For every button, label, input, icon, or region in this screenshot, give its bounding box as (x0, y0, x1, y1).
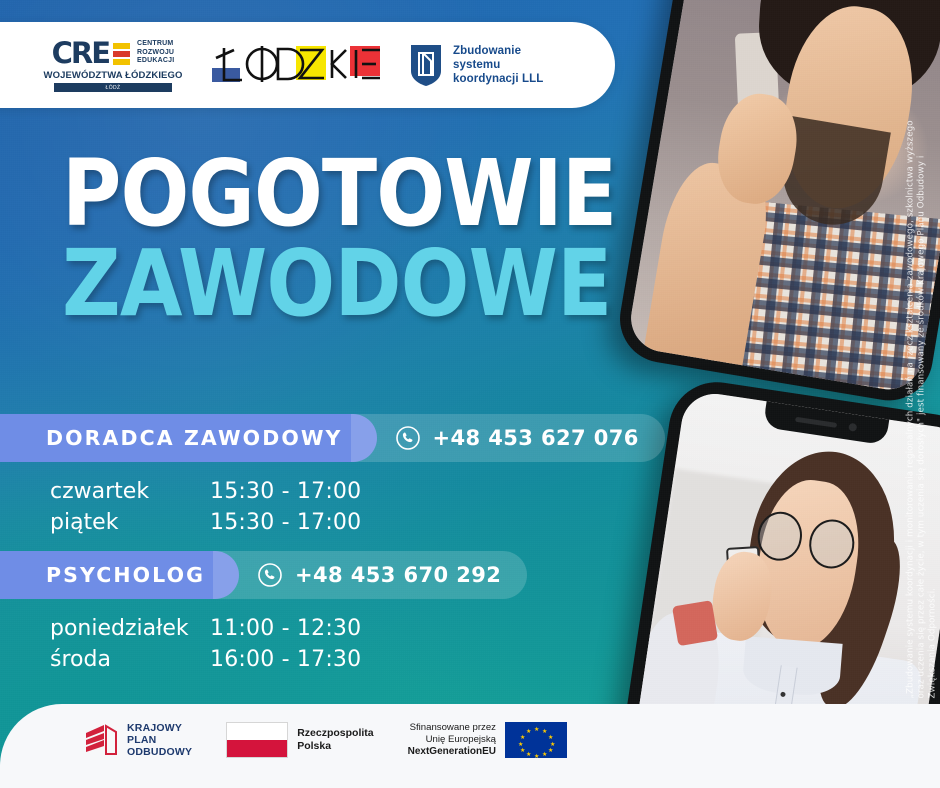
eu-line-3: NextGenerationEU (408, 746, 496, 757)
contact-band-psycholog: PSYCHOLOG +48 453 670 292 (0, 551, 527, 599)
cre-line-1: CENTRUM (137, 40, 174, 49)
shield-book-icon (409, 43, 443, 87)
poland-flag-icon (226, 722, 288, 758)
headline-line-2: ZAWODOWE (62, 238, 616, 330)
rp-line-2: Polska (297, 740, 373, 753)
hours-row: poniedziałek 11:00 - 12:30 (50, 613, 361, 644)
hours-row: środa 16:00 - 17:30 (50, 644, 361, 675)
cre-subtitle: CENTRUM ROZWOJU EDUKACJI (134, 38, 174, 68)
footer-logos: KRAJOWY PLAN ODBUDOWY Rzeczpospolita Pol… (84, 722, 567, 758)
cre-color-bars (113, 38, 130, 68)
phone-handset-icon (395, 425, 421, 451)
disclaimer-vertical-wrap: „Zbudowanie systemu koordynacji i monito… (908, 96, 936, 696)
rp-line-1: Rzeczpospolita (297, 727, 373, 740)
kpo-text: KRAJOWY PLAN ODBUDOWY (127, 722, 192, 758)
contact-label-doradca: DORADCA ZAWODOWY (0, 414, 377, 462)
contact-band-doradca: DORADCA ZAWODOWY +48 453 627 076 (0, 414, 665, 462)
kpo-logo: KRAJOWY PLAN ODBUDOWY (84, 722, 192, 758)
eu-line-1: Sfinansowane przez (408, 722, 496, 734)
poster-root: CRE CENTRUM ROZWOJU EDUKACJI WOJEWÓDZTWA… (0, 0, 940, 788)
cre-region: WOJEWÓDZTWA ŁÓDZKIEGO (44, 70, 183, 81)
hours-psycholog: poniedziałek 11:00 - 12:30 środa 16:00 -… (50, 613, 361, 675)
hours-day: czwartek (50, 476, 210, 507)
hours-doradca: czwartek 15:30 - 17:00 piątek 15:30 - 17… (50, 476, 361, 538)
eu-flag-icon: ★ ★ ★ ★ ★ ★ ★ ★ ★ ★ ★ ★ (505, 722, 567, 758)
hours-row: piątek 15:30 - 17:00 (50, 507, 361, 538)
header-logo-bar: CRE CENTRUM ROZWOJU EDUKACJI WOJEWÓDZTWA… (0, 22, 615, 108)
phone-number-psycholog: +48 453 670 292 (295, 563, 501, 587)
eu-text: Sfinansowane przez Unię Europejską NextG… (408, 722, 496, 758)
cre-line-3: EDUKACJI (137, 57, 174, 66)
kpo-line-1: KRAJOWY (127, 722, 192, 734)
kpo-building-icon (84, 723, 118, 757)
lll-logo-text: Zbudowanie systemu koordynacji LLL (453, 44, 543, 86)
funding-disclaimer: „Zbudowanie systemu koordynacji i monito… (906, 99, 939, 699)
kpo-line-2: PLAN (127, 734, 192, 746)
eu-funding-logo: Sfinansowane przez Unię Europejską NextG… (408, 722, 567, 758)
cre-logo: CRE CENTRUM ROZWOJU EDUKACJI WOJEWÓDZTWA… (38, 38, 188, 92)
lodzkie-logo (210, 42, 385, 88)
lll-line-2: systemu (453, 58, 543, 72)
poland-logo: Rzeczpospolita Polska (226, 722, 373, 758)
headline-line-1: POGOTOWIE (62, 150, 616, 238)
contact-phone-psycholog[interactable]: +48 453 670 292 (213, 551, 527, 599)
lodzkie-wordmark-icon (210, 42, 385, 88)
hours-time: 15:30 - 17:00 (210, 476, 361, 507)
phone-number-doradca: +48 453 627 076 (433, 426, 639, 450)
hours-day: piątek (50, 507, 210, 538)
lll-line-1: Zbudowanie (453, 44, 543, 58)
cre-line-2: ROZWOJU (137, 49, 174, 58)
lll-line-3: koordynacji LLL (453, 72, 543, 86)
hours-row: czwartek 15:30 - 17:00 (50, 476, 361, 507)
poland-text: Rzeczpospolita Polska (297, 727, 373, 753)
contact-phone-doradca[interactable]: +48 453 627 076 (351, 414, 665, 462)
cre-city: ŁÓDŹ (54, 83, 172, 92)
hours-time: 16:00 - 17:30 (210, 644, 361, 675)
eu-line-2: Unię Europejską (408, 734, 496, 746)
contact-label-psycholog: PSYCHOLOG (0, 551, 239, 599)
hours-day: środa (50, 644, 210, 675)
phone-handset-icon (257, 562, 283, 588)
hours-time: 15:30 - 17:00 (210, 507, 361, 538)
cre-acronym: CRE (52, 38, 109, 68)
hours-day: poniedziałek (50, 613, 210, 644)
kpo-line-3: ODBUDOWY (127, 746, 192, 758)
poster-headline: POGOTOWIE ZAWODOWE (62, 150, 692, 330)
hours-time: 11:00 - 12:30 (210, 613, 361, 644)
lll-logo: Zbudowanie systemu koordynacji LLL (409, 43, 543, 87)
footer-bar: KRAJOWY PLAN ODBUDOWY Rzeczpospolita Pol… (0, 704, 940, 788)
